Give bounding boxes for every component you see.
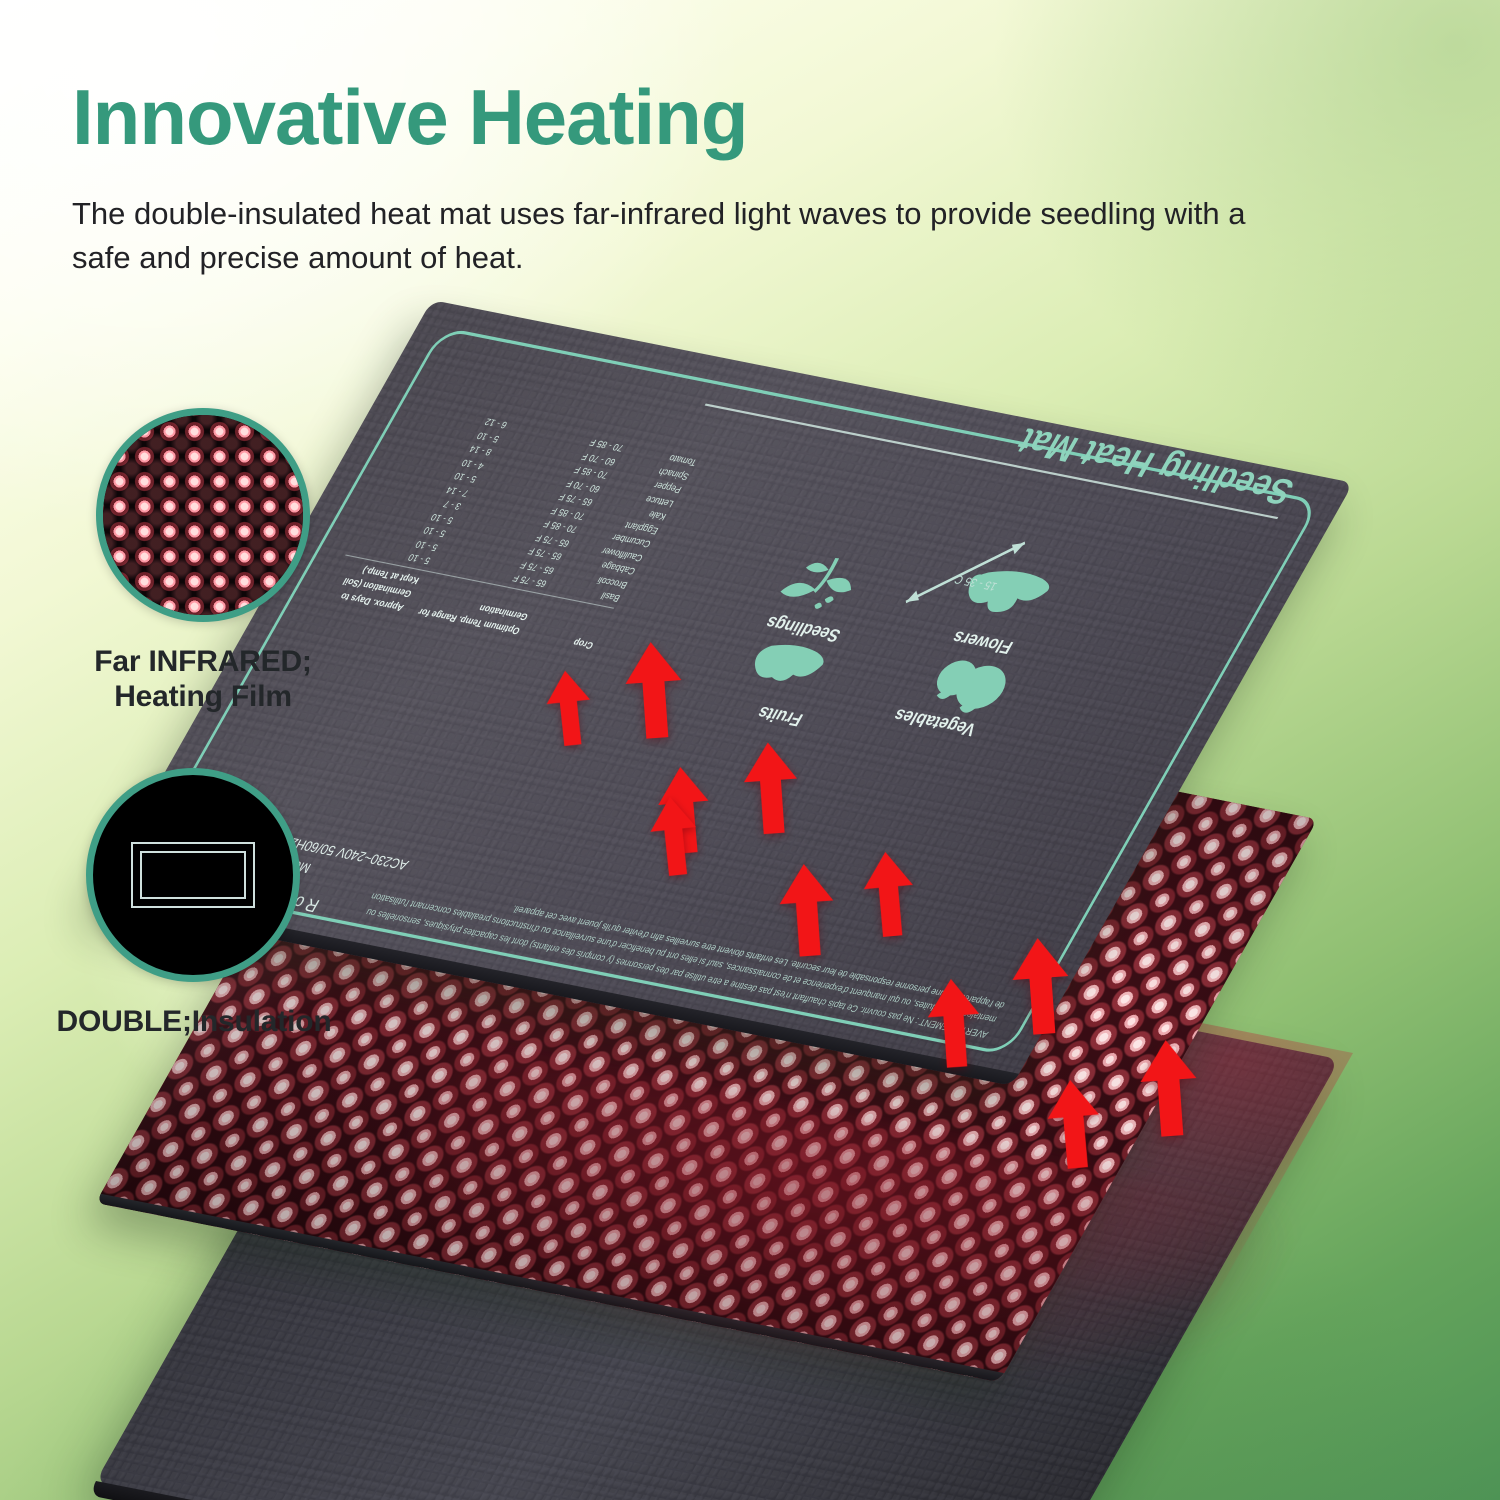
- insulation-inner-rect: [140, 851, 246, 899]
- feature-label-far-infrared: Far INFRARED;Heating Film: [78, 644, 328, 715]
- germination-header-days: Approx. Days to Germination (Soil Kept a…: [321, 558, 423, 614]
- double-insulation-badge-circle: [86, 768, 300, 982]
- seedlings-silhouette-icon: [763, 540, 884, 618]
- insulation-outer-rect: [131, 842, 255, 908]
- dot-grid-icon: [103, 415, 303, 615]
- mat-print-germination-table: Crop Optimum Temp. Range for Germination…: [321, 403, 700, 652]
- mat-print-category-fruits: Fruits: [753, 701, 807, 729]
- germination-header-crop: Crop: [525, 599, 612, 652]
- feature-label-double-insulation: DOUBLE;Insulation: [34, 1004, 354, 1039]
- feature-badge-double-insulation: DOUBLE;Insulation: [86, 768, 354, 1039]
- mat-print-temperature-arrow: 15 - 35 C: [952, 572, 999, 592]
- far-infrared-badge-circle: [96, 408, 310, 622]
- double-rectangle-icon: [131, 842, 255, 908]
- mat-print-title: Seedling Heat Mat: [1010, 419, 1302, 512]
- page-subtitle: The double-insulated heat mat uses far-i…: [72, 192, 1262, 280]
- page-title: Innovative Heating: [72, 78, 1302, 156]
- header-block: Innovative Heating The double-insulated …: [72, 78, 1302, 280]
- feature-badge-far-infrared: Far INFRARED;Heating Film: [96, 408, 328, 715]
